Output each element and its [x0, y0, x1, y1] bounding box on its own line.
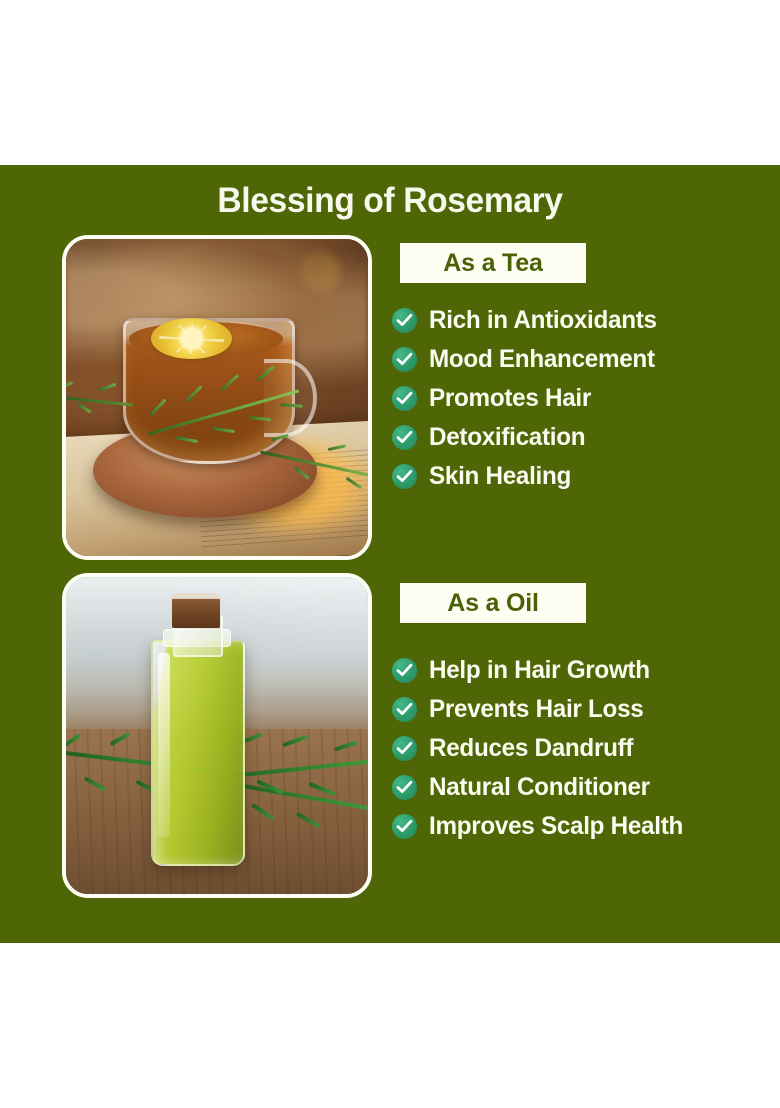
list-item: Promotes Hair — [392, 379, 664, 418]
check-circle-icon — [392, 425, 417, 450]
benefit-label: Detoxification — [429, 425, 585, 450]
list-item: Mood Enhancement — [392, 340, 664, 379]
oil-benefits-list: Help in Hair Growth Prevents Hair Loss R… — [392, 651, 691, 846]
rosemary-sprig-left — [66, 374, 135, 427]
rosemary-infographic: Blessing of Rosemary — [0, 165, 780, 943]
benefit-label: Skin Healing — [429, 464, 571, 489]
check-circle-icon — [392, 386, 417, 411]
list-item: Reduces Dandruff — [392, 729, 691, 768]
check-circle-icon — [392, 775, 417, 800]
benefit-label: Mood Enhancement — [429, 347, 655, 372]
check-circle-icon — [392, 814, 417, 839]
list-item: Prevents Hair Loss — [392, 690, 691, 729]
benefit-label: Improves Scalp Health — [429, 814, 683, 839]
cork-stopper — [172, 593, 220, 628]
check-circle-icon — [392, 347, 417, 372]
benefit-label: Reduces Dandruff — [429, 736, 633, 761]
page-title: Blessing of Rosemary — [16, 183, 765, 218]
oil-photo — [62, 573, 372, 898]
benefit-label: Prevents Hair Loss — [429, 697, 643, 722]
benefit-label: Rich in Antioxidants — [429, 308, 657, 333]
check-circle-icon — [392, 736, 417, 761]
section-badge-oil: As a Oil — [400, 583, 586, 623]
check-circle-icon — [392, 464, 417, 489]
list-item: Help in Hair Growth — [392, 651, 691, 690]
list-item: Rich in Antioxidants — [392, 301, 664, 340]
list-item: Skin Healing — [392, 457, 664, 496]
bottle-highlight — [158, 653, 170, 837]
benefit-label: Help in Hair Growth — [429, 658, 650, 683]
list-item: Detoxification — [392, 418, 664, 457]
check-circle-icon — [392, 697, 417, 722]
tea-photo — [62, 235, 372, 560]
list-item: Improves Scalp Health — [392, 807, 691, 846]
check-circle-icon — [392, 658, 417, 683]
tea-benefits-list: Rich in Antioxidants Mood Enhancement Pr… — [392, 301, 664, 496]
check-circle-icon — [392, 308, 417, 333]
benefit-label: Promotes Hair — [429, 386, 591, 411]
section-badge-tea: As a Tea — [400, 243, 586, 283]
list-item: Natural Conditioner — [392, 768, 691, 807]
benefit-label: Natural Conditioner — [429, 775, 650, 800]
